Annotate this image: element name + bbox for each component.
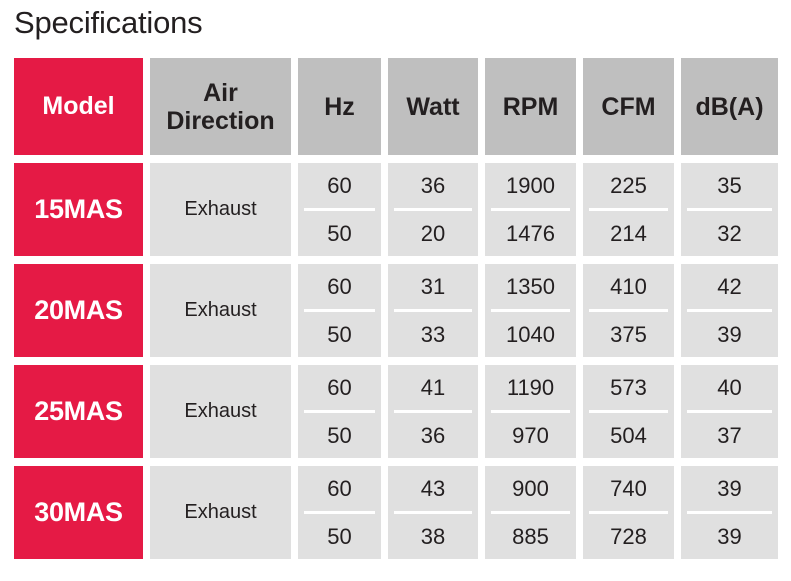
cell-cfm-50: 728 xyxy=(583,514,674,559)
cell-cfm: 410 375 xyxy=(583,264,674,357)
cell-cfm-50: 375 xyxy=(583,312,674,357)
cell-dba-60: 40 xyxy=(681,365,778,410)
cell-cfm: 740 728 xyxy=(583,466,674,559)
cell-dba-50: 39 xyxy=(681,312,778,357)
cell-model: 30MAS xyxy=(14,466,143,559)
table-row: 15MAS Exhaust 60 50 36 20 1900 1476 225 … xyxy=(14,163,766,256)
cell-watt: 41 36 xyxy=(388,365,478,458)
column-header-model: Model xyxy=(14,58,143,155)
cell-watt: 36 20 xyxy=(388,163,478,256)
cell-rpm-50: 885 xyxy=(485,514,576,559)
cell-dba: 39 39 xyxy=(681,466,778,559)
column-header-watt: Watt xyxy=(388,58,478,155)
cell-rpm: 900 885 xyxy=(485,466,576,559)
cell-rpm-50: 1040 xyxy=(485,312,576,357)
cell-watt-60: 41 xyxy=(388,365,478,410)
cell-dba-50: 39 xyxy=(681,514,778,559)
table-row: 20MAS Exhaust 60 50 31 33 1350 1040 410 … xyxy=(14,264,766,357)
specifications-page: Specifications Model Air Direction Hz Wa… xyxy=(0,0,791,581)
column-header-air-direction-line2: Direction xyxy=(166,107,274,135)
cell-dba-60: 42 xyxy=(681,264,778,309)
cell-watt-50: 36 xyxy=(388,413,478,458)
cell-dba: 40 37 xyxy=(681,365,778,458)
cell-hz-60: 60 xyxy=(298,163,381,208)
cell-cfm-60: 225 xyxy=(583,163,674,208)
cell-watt: 43 38 xyxy=(388,466,478,559)
table-row: 30MAS Exhaust 60 50 43 38 900 885 740 72… xyxy=(14,466,766,559)
cell-model: 25MAS xyxy=(14,365,143,458)
cell-dba: 42 39 xyxy=(681,264,778,357)
cell-air-direction: Exhaust xyxy=(150,264,291,357)
cell-hz-50: 50 xyxy=(298,211,381,256)
specifications-table: Model Air Direction Hz Watt RPM CFM dB(A… xyxy=(14,58,766,559)
cell-rpm-60: 900 xyxy=(485,466,576,511)
cell-hz: 60 50 xyxy=(298,163,381,256)
cell-watt-60: 36 xyxy=(388,163,478,208)
column-header-air-direction: Air Direction xyxy=(150,58,291,155)
cell-air-direction: Exhaust xyxy=(150,466,291,559)
cell-cfm-60: 740 xyxy=(583,466,674,511)
cell-watt-50: 20 xyxy=(388,211,478,256)
column-header-air-direction-line1: Air xyxy=(166,79,274,107)
cell-model: 20MAS xyxy=(14,264,143,357)
cell-dba-50: 37 xyxy=(681,413,778,458)
cell-air-direction: Exhaust xyxy=(150,365,291,458)
cell-rpm-60: 1900 xyxy=(485,163,576,208)
column-header-rpm: RPM xyxy=(485,58,576,155)
cell-air-direction: Exhaust xyxy=(150,163,291,256)
cell-cfm-60: 573 xyxy=(583,365,674,410)
cell-cfm-50: 214 xyxy=(583,211,674,256)
column-header-hz: Hz xyxy=(298,58,381,155)
column-header-cfm: CFM xyxy=(583,58,674,155)
cell-rpm: 1350 1040 xyxy=(485,264,576,357)
cell-hz: 60 50 xyxy=(298,264,381,357)
cell-rpm: 1190 970 xyxy=(485,365,576,458)
cell-dba: 35 32 xyxy=(681,163,778,256)
cell-watt: 31 33 xyxy=(388,264,478,357)
cell-watt-60: 43 xyxy=(388,466,478,511)
cell-watt-50: 33 xyxy=(388,312,478,357)
cell-cfm: 225 214 xyxy=(583,163,674,256)
cell-hz-60: 60 xyxy=(298,264,381,309)
cell-rpm-50: 1476 xyxy=(485,211,576,256)
cell-hz-50: 50 xyxy=(298,514,381,559)
cell-rpm-50: 970 xyxy=(485,413,576,458)
cell-hz: 60 50 xyxy=(298,365,381,458)
column-header-dba: dB(A) xyxy=(681,58,778,155)
table-header-row: Model Air Direction Hz Watt RPM CFM dB(A… xyxy=(14,58,766,155)
cell-hz-50: 50 xyxy=(298,413,381,458)
cell-dba-60: 39 xyxy=(681,466,778,511)
cell-rpm-60: 1190 xyxy=(485,365,576,410)
cell-cfm-60: 410 xyxy=(583,264,674,309)
cell-rpm-60: 1350 xyxy=(485,264,576,309)
cell-dba-50: 32 xyxy=(681,211,778,256)
cell-dba-60: 35 xyxy=(681,163,778,208)
cell-rpm: 1900 1476 xyxy=(485,163,576,256)
cell-watt-50: 38 xyxy=(388,514,478,559)
cell-hz: 60 50 xyxy=(298,466,381,559)
table-row: 25MAS Exhaust 60 50 41 36 1190 970 573 5… xyxy=(14,365,766,458)
cell-cfm-50: 504 xyxy=(583,413,674,458)
cell-watt-60: 31 xyxy=(388,264,478,309)
cell-hz-50: 50 xyxy=(298,312,381,357)
cell-cfm: 573 504 xyxy=(583,365,674,458)
cell-model: 15MAS xyxy=(14,163,143,256)
cell-hz-60: 60 xyxy=(298,466,381,511)
cell-hz-60: 60 xyxy=(298,365,381,410)
page-title: Specifications xyxy=(14,1,202,45)
